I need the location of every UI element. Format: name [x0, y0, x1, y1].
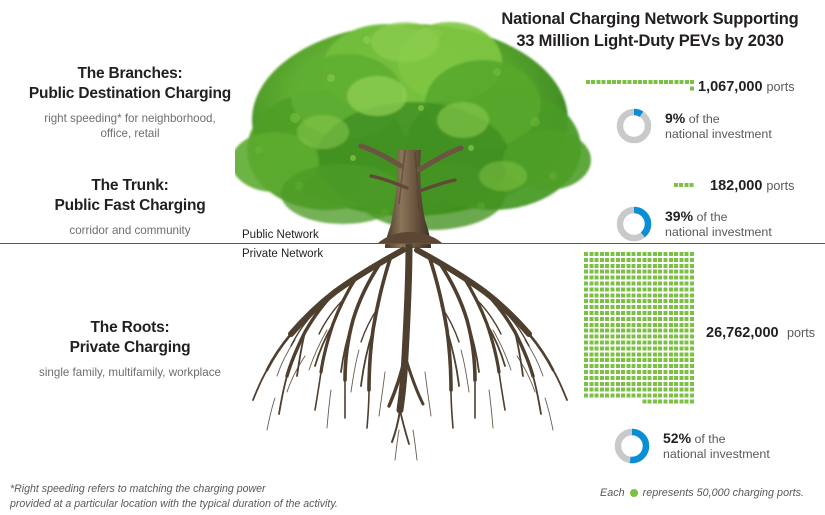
- footnote-line-2: provided at a particular location with t…: [10, 497, 400, 512]
- investment-of-the-trunk: of the: [696, 210, 727, 224]
- investment-text-trunk: 39% of the national investment: [665, 208, 772, 240]
- section-branches-subtitle: right speeding* for neighborhood, office…: [6, 111, 254, 142]
- investment-row-trunk: 39% of the national investment: [612, 202, 794, 246]
- dot-grid-trunk: [674, 179, 698, 193]
- section-trunk-title-line-1: The Trunk:: [6, 176, 254, 196]
- section-roots: The Roots: Private Charging single famil…: [6, 318, 254, 380]
- section-trunk: The Trunk: Public Fast Charging corridor…: [6, 176, 254, 238]
- ports-value-branches: 1,067,000: [698, 79, 763, 95]
- ports-value-roots: 26,762,000: [706, 325, 779, 341]
- footnote: *Right speeding refers to matching the c…: [10, 482, 400, 512]
- private-network-label: Private Network: [242, 248, 323, 260]
- investment-of-the-branches: of the: [689, 112, 720, 126]
- ports-unit-branches: ports: [767, 80, 795, 94]
- investment-line-2-trunk: national investment: [665, 225, 772, 240]
- infographic-canvas: National Charging Network Supporting 33 …: [0, 0, 825, 515]
- section-roots-title-line-1: The Roots:: [6, 318, 254, 338]
- section-branches-subtitle-line-1: right speeding* for neighborhood,: [6, 111, 254, 126]
- investment-of-the-roots: of the: [694, 432, 725, 446]
- footnote-line-1: *Right speeding refers to matching the c…: [10, 482, 400, 497]
- ports-label-roots: 26,762,000 ports: [706, 324, 815, 342]
- page-title: National Charging Network Supporting 33 …: [480, 8, 820, 53]
- section-roots-subtitle: single family, multifamily, workplace: [6, 365, 254, 380]
- stat-group-branches: 1,067,000 ports 9% of the national inves…: [586, 78, 795, 148]
- canopy-texture: [255, 29, 557, 216]
- tree-trunk: [361, 146, 461, 248]
- legend: Each represents 50,000 charging ports.: [600, 487, 804, 499]
- investment-text-roots: 52% of the national investment: [663, 430, 770, 462]
- ports-unit-roots: ports: [787, 326, 815, 340]
- headline-line-2: 33 Million Light-Duty PEVs by 2030: [480, 30, 820, 52]
- dot-grid-roots: [584, 252, 698, 414]
- section-branches-title-line-1: The Branches:: [6, 64, 254, 84]
- ports-row-trunk: 182,000 ports: [674, 178, 794, 194]
- section-roots-subtitle-line-1: single family, multifamily, workplace: [6, 365, 254, 380]
- legend-prefix: Each: [600, 487, 625, 499]
- section-roots-title: The Roots: Private Charging: [6, 318, 254, 358]
- investment-pct-trunk: 39%: [665, 208, 693, 224]
- investment-row-roots: 52% of the national investment: [610, 424, 770, 468]
- tree-canopy: [235, 22, 591, 230]
- section-branches-title: The Branches: Public Destination Chargin…: [6, 64, 254, 104]
- stat-group-roots: 26,762,000 ports: [584, 252, 815, 414]
- section-branches-title-line-2: Public Destination Charging: [6, 84, 254, 104]
- investment-row-branches: 9% of the national investment: [612, 104, 795, 148]
- ports-unit-trunk: ports: [766, 179, 794, 193]
- investment-group-roots: 52% of the national investment: [610, 424, 770, 468]
- investment-line-2-branches: national investment: [665, 127, 772, 142]
- investment-line-1-branches: 9% of the: [665, 110, 772, 127]
- donut-chart-roots: [610, 424, 654, 468]
- stat-group-trunk: 182,000 ports 39% of the national invest…: [586, 178, 794, 246]
- ports-row-branches: 1,067,000 ports: [586, 78, 795, 96]
- investment-pct-roots: 52%: [663, 430, 691, 446]
- section-roots-title-line-2: Private Charging: [6, 338, 254, 358]
- ports-row-roots: 26,762,000 ports: [584, 252, 815, 414]
- tree-roots: [253, 246, 567, 460]
- investment-pct-branches: 9%: [665, 110, 685, 126]
- section-branches: The Branches: Public Destination Chargin…: [6, 64, 254, 141]
- investment-line-1-roots: 52% of the: [663, 430, 770, 447]
- section-trunk-subtitle: corridor and community: [6, 223, 254, 238]
- donut-chart-trunk: [612, 202, 656, 246]
- donut-chart-branches: [612, 104, 656, 148]
- section-trunk-subtitle-line-1: corridor and community: [6, 223, 254, 238]
- section-branches-subtitle-line-2: office, retail: [6, 126, 254, 141]
- ports-value-trunk: 182,000: [710, 178, 762, 194]
- legend-dot-icon: [630, 489, 638, 497]
- investment-line-2-roots: national investment: [663, 447, 770, 462]
- section-trunk-title-line-2: Public Fast Charging: [6, 196, 254, 216]
- legend-suffix: represents 50,000 charging ports.: [643, 487, 804, 499]
- headline-line-1: National Charging Network Supporting: [480, 8, 820, 30]
- investment-text-branches: 9% of the national investment: [665, 110, 772, 142]
- dot-grid-branches: [586, 78, 698, 96]
- investment-line-1-trunk: 39% of the: [665, 208, 772, 225]
- section-trunk-title: The Trunk: Public Fast Charging: [6, 176, 254, 216]
